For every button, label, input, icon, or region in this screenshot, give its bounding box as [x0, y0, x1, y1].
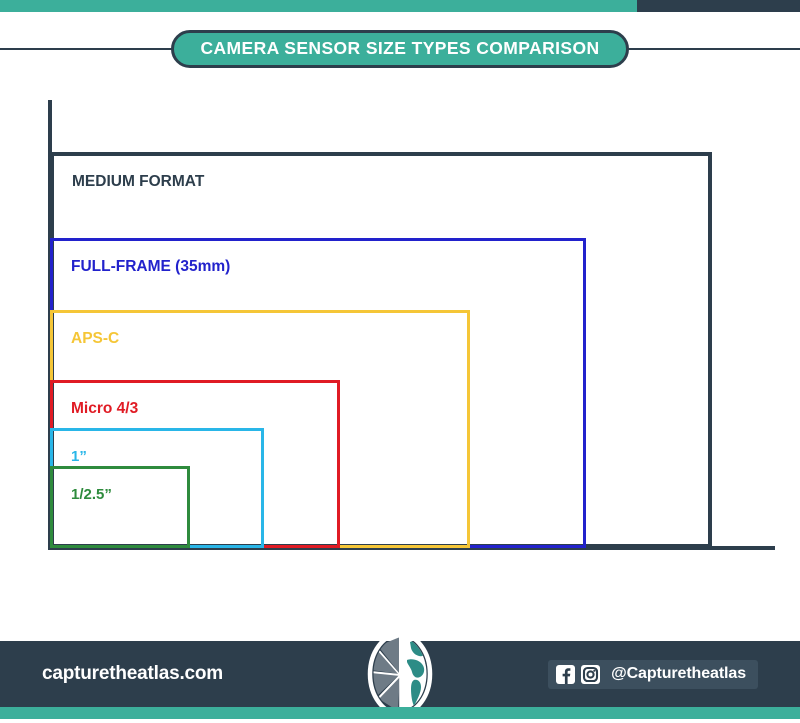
top-accent-bar: [0, 0, 800, 12]
sensor-label-medium-format: MEDIUM FORMAT: [72, 174, 204, 190]
facebook-icon[interactable]: [556, 665, 575, 684]
top-accent-bar-teal-segment: [0, 0, 637, 12]
social-handle-badge[interactable]: @Capturetheatlas: [548, 660, 758, 689]
sensor-size-comparison-chart: MEDIUM FORMAT FULL-FRAME (35mm) APS-C Mi…: [0, 85, 800, 585]
top-accent-bar-navy-segment: [637, 0, 800, 12]
aperture-globe-logo: [366, 630, 434, 718]
footer-accent-bar: [0, 707, 800, 719]
instagram-icon[interactable]: [581, 665, 600, 684]
footer-social-handle: @Capturetheatlas: [611, 665, 746, 683]
title-pill: CAMERA SENSOR SIZE TYPES COMPARISON: [171, 30, 628, 68]
title-band: CAMERA SENSOR SIZE TYPES COMPARISON: [0, 30, 800, 68]
sensor-label-one-inch: 1”: [71, 449, 87, 464]
sensor-label-one-over-two-point-five-inch: 1/2.5”: [71, 487, 112, 502]
footer-website: capturetheatlas.com: [42, 663, 223, 685]
sensor-label-micro-four-thirds: Micro 4/3: [71, 401, 138, 417]
footer-bar: capturetheatlas.com: [0, 641, 800, 707]
sensor-label-full-frame: FULL-FRAME (35mm): [71, 259, 230, 275]
sensor-label-aps-c: APS-C: [71, 331, 119, 347]
page-title: CAMERA SENSOR SIZE TYPES COMPARISON: [200, 40, 599, 58]
sensor-box-one-over-two-point-five-inch: 1/2.5”: [50, 466, 190, 548]
